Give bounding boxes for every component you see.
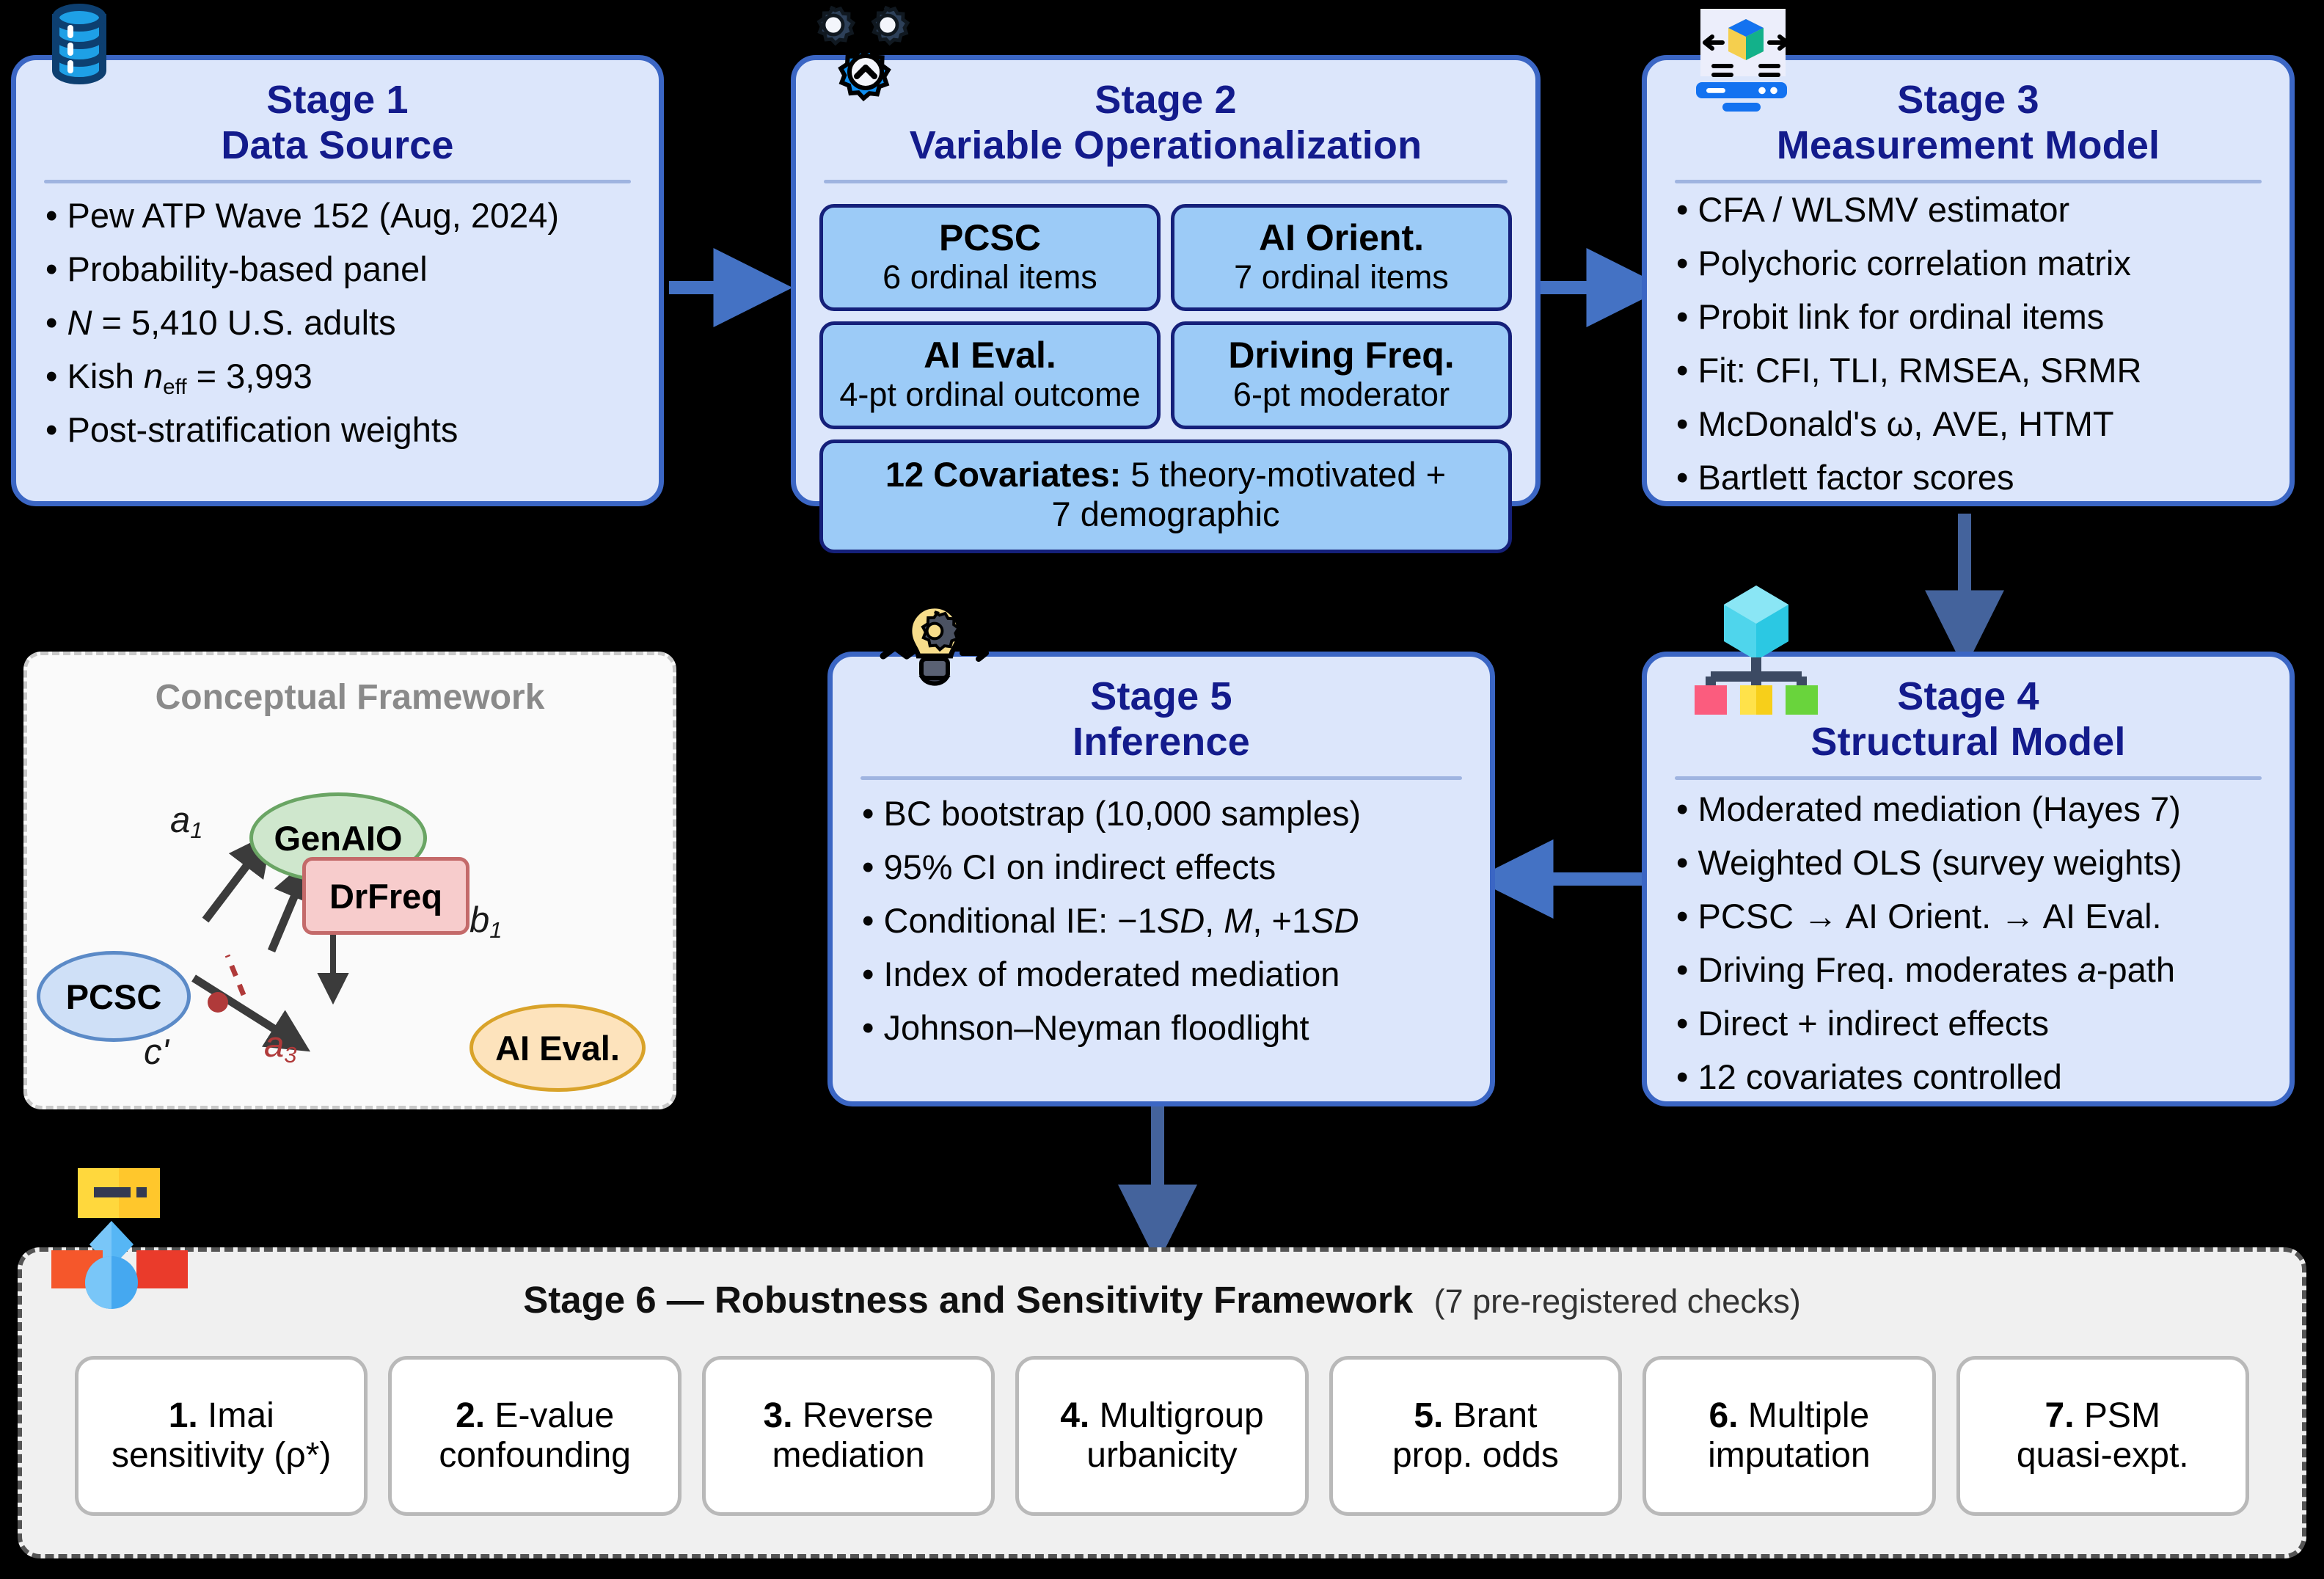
check-line2: urbanicity — [1086, 1436, 1237, 1476]
list-item: • Pew ATP Wave 152 (Aug, 2024) — [45, 198, 634, 233]
stage-3-title-line2: Measurement Model — [1647, 123, 2290, 169]
check-number: 2. — [456, 1396, 485, 1435]
list-item: • Driving Freq. moderates a-path — [1676, 952, 2265, 988]
variable-card-title: AI Orient. — [1177, 218, 1505, 258]
check-number: 7. — [2045, 1396, 2075, 1435]
check-line2: prop. odds — [1392, 1436, 1559, 1476]
stage-3-divider — [1675, 180, 2262, 183]
path-a1-letter: a — [170, 801, 190, 840]
check-line1: Multigroup — [1089, 1396, 1263, 1435]
stage-1-bullets: • Pew ATP Wave 152 (Aug, 2024) • Probabi… — [16, 188, 659, 448]
cond-mid: , — [1205, 901, 1224, 940]
check-number: 4. — [1060, 1396, 1089, 1435]
list-item: • BC bootstrap (10,000 samples) — [862, 796, 1465, 831]
stage-5-divider — [860, 776, 1462, 780]
list-item: • McDonald's ω, AVE, HTMT — [1676, 406, 2265, 442]
check-line1: PSM — [2075, 1396, 2160, 1435]
list-item: • CFA / WLSMV estimator — [1676, 192, 2265, 227]
path-label-a3: a3 — [264, 1024, 296, 1065]
variable-card-sub: 7 ordinal items — [1177, 259, 1505, 296]
driving-post: -path — [2097, 950, 2175, 989]
check-number: 6. — [1709, 1396, 1738, 1435]
list-item: • Direct + indirect effects — [1676, 1006, 2265, 1041]
driving-a: a — [2078, 950, 2097, 989]
variable-card-covariates[interactable]: 12 Covariates: 5 theory-motivated + 7 de… — [819, 440, 1512, 553]
stage-2-divider — [824, 180, 1508, 183]
robustness-check-3[interactable]: 3. Reverse mediation — [702, 1356, 995, 1516]
covariates-rest: 5 theory-motivated + — [1121, 455, 1446, 494]
cond-sd2: SD — [1311, 901, 1359, 940]
variable-card-sub: 6 ordinal items — [826, 259, 1154, 296]
stage-6-subtitle: (7 pre-registered checks) — [1434, 1283, 1801, 1320]
list-item: • Index of moderated mediation — [862, 957, 1465, 992]
node-ai-eval[interactable]: AI Eval. — [469, 1004, 646, 1092]
variable-card-pcsc[interactable]: PCSC 6 ordinal items — [819, 204, 1161, 311]
list-item: • 12 covariates controlled — [1676, 1060, 2265, 1095]
check-line1: Multiple — [1738, 1396, 1869, 1435]
list-item: • PCSC → AI Orient. → AI Eval. — [1676, 899, 2265, 934]
covariates-label: 12 Covariates: — [885, 455, 1121, 494]
cond-m: M — [1224, 901, 1252, 940]
database-icon — [35, 0, 123, 88]
list-item: • Moderated mediation (Hayes 7) — [1676, 792, 2265, 827]
kish-n: n — [144, 357, 163, 395]
list-item: • Probability-based panel — [45, 252, 634, 287]
check-line1: E-value — [485, 1396, 614, 1435]
stage-6-panel: Stage 6 — Robustness and Sensitivity Fra… — [18, 1247, 2306, 1558]
variable-card-sub: 4-pt ordinal outcome — [826, 376, 1154, 413]
list-item: • Probit link for ordinal items — [1676, 299, 2265, 335]
stage-4-title-line2: Structural Model — [1647, 720, 2290, 765]
check-number: 5. — [1414, 1396, 1443, 1435]
node-ai-eval-label: AI Eval. — [495, 1028, 620, 1068]
stage-3-card: Stage 3 Measurement Model • CFA / WLSMV … — [1642, 55, 2295, 506]
list-item: • Kish neff = 3,993 — [45, 359, 634, 394]
stage-5-title-line2: Inference — [833, 720, 1490, 765]
stage-4-card: Stage 4 Structural Model • Moderated med… — [1642, 652, 2295, 1106]
node-drfreq[interactable]: DrFreq — [302, 857, 469, 935]
check-line2: quasi-expt. — [2017, 1436, 2189, 1476]
stage-6-check-row: 1. Imai sensitivity (ρ*) 2. E-value conf… — [75, 1356, 2249, 1516]
variable-card-title: Driving Freq. — [1177, 335, 1505, 375]
robustness-check-6[interactable]: 6. Multiple imputation — [1642, 1356, 1935, 1516]
stage-4-bullets: • Moderated mediation (Hayes 7) • Weight… — [1647, 784, 2290, 1095]
list-item: • Conditional IE: −1SD, M, +1SD — [862, 903, 1465, 938]
path-label-b1: b1 — [469, 900, 502, 941]
check-line1: Reverse — [793, 1396, 934, 1435]
cube-measure-icon — [1678, 1, 1803, 112]
network-nodes-icon — [45, 1159, 178, 1299]
check-number: 1. — [169, 1396, 198, 1435]
variable-card-ai-orient[interactable]: AI Orient. 7 ordinal items — [1171, 204, 1512, 311]
check-line1: Brant — [1443, 1396, 1537, 1435]
variable-card-driving-freq[interactable]: Driving Freq. 6-pt moderator — [1171, 321, 1512, 429]
variable-card-ai-eval[interactable]: AI Eval. 4-pt ordinal outcome — [819, 321, 1161, 429]
robustness-check-7[interactable]: 7. PSM quasi-expt. — [1956, 1356, 2249, 1516]
kish-sub: eff — [163, 375, 186, 399]
stage-5-card: Stage 5 Inference • BC bootstrap (10,000… — [827, 652, 1495, 1106]
robustness-check-5[interactable]: 5. Brant prop. odds — [1329, 1356, 1622, 1516]
n-symbol: N — [67, 303, 92, 342]
robustness-check-2[interactable]: 2. E-value confounding — [388, 1356, 681, 1516]
diagram-canvas: Stage 1 Data Source • Pew ATP Wave 152 (… — [0, 0, 2324, 1579]
node-drfreq-label: DrFreq — [329, 876, 442, 916]
cond-pre: • Conditional IE: −1 — [862, 901, 1157, 940]
stage-3-bullets: • CFA / WLSMV estimator • Polychoric cor… — [1647, 188, 2290, 495]
variable-card-title: PCSC — [826, 218, 1154, 258]
covariates-line2: 7 demographic — [830, 495, 1501, 535]
list-item: • Weighted OLS (survey weights) — [1676, 845, 2265, 880]
stage-4-divider — [1675, 776, 2262, 780]
path-a3-letter: a — [264, 1025, 284, 1065]
list-item: • N = 5,410 U.S. adults — [45, 305, 634, 340]
list-item: • Johnson–Neyman floodlight — [862, 1010, 1465, 1046]
check-line2: sensitivity (ρ*) — [112, 1436, 331, 1476]
stage-6-title: Stage 6 — Robustness and Sensitivity Fra… — [523, 1279, 1413, 1321]
check-line2: confounding — [439, 1436, 631, 1476]
path-a1-sub: 1 — [190, 817, 202, 843]
variable-card-sub: 6-pt moderator — [1177, 376, 1505, 413]
list-item: • Post-stratification weights — [45, 412, 634, 448]
path-b1-letter: b — [469, 900, 489, 940]
cond-sd1: SD — [1157, 901, 1205, 940]
stage-6-header: Stage 6 — Robustness and Sensitivity Fra… — [22, 1278, 2302, 1321]
node-genaio-label: GenAIO — [274, 818, 403, 858]
check-line2: imputation — [1708, 1436, 1870, 1476]
list-item: • Fit: CFI, TLI, RMSEA, SRMR — [1676, 353, 2265, 388]
path-label-a1: a1 — [170, 800, 202, 841]
check-line2: mediation — [772, 1436, 924, 1476]
n-rest: = 5,410 U.S. adults — [92, 303, 395, 342]
list-item: • 95% CI on indirect effects — [862, 850, 1465, 885]
robustness-check-4[interactable]: 4. Multigroup urbanicity — [1015, 1356, 1308, 1516]
lightbulb-gear-icon — [866, 600, 1005, 696]
list-item: • Polychoric correlation matrix — [1676, 246, 2265, 281]
robustness-check-1[interactable]: 1. Imai sensitivity (ρ*) — [75, 1356, 368, 1516]
stage-1-title-line2: Data Source — [16, 123, 659, 169]
variable-card-title: AI Eval. — [826, 335, 1154, 375]
path-a3-sub: 3 — [284, 1042, 296, 1068]
stage-2-variable-grid: PCSC 6 ordinal items AI Orient. 7 ordina… — [819, 204, 1512, 553]
stage-2-card: Stage 2 Variable Operationalization PCSC… — [791, 55, 1541, 506]
path-label-cprime: c' — [144, 1032, 169, 1073]
node-pcsc-label: PCSC — [66, 977, 162, 1017]
node-pcsc[interactable]: PCSC — [37, 951, 191, 1042]
driving-pre: • Driving Freq. moderates — [1676, 950, 2078, 989]
hierarchy-cube-icon — [1687, 580, 1827, 712]
stage-1-divider — [44, 180, 631, 183]
check-number: 3. — [764, 1396, 793, 1435]
kish-rest: = 3,993 — [187, 357, 313, 395]
stage-1-card: Stage 1 Data Source • Pew ATP Wave 152 (… — [11, 55, 664, 506]
kish-pre: • Kish — [45, 357, 144, 395]
cond-mid2: , +1 — [1252, 901, 1311, 940]
list-item: • Bartlett factor scores — [1676, 460, 2265, 495]
stage-2-title-line2: Variable Operationalization — [796, 123, 1535, 169]
stage-5-bullets: • BC bootstrap (10,000 samples) • 95% CI… — [833, 784, 1490, 1046]
path-b1-sub: 1 — [489, 917, 502, 943]
gears-icon — [801, 1, 940, 112]
check-line1: Imai — [198, 1396, 274, 1435]
